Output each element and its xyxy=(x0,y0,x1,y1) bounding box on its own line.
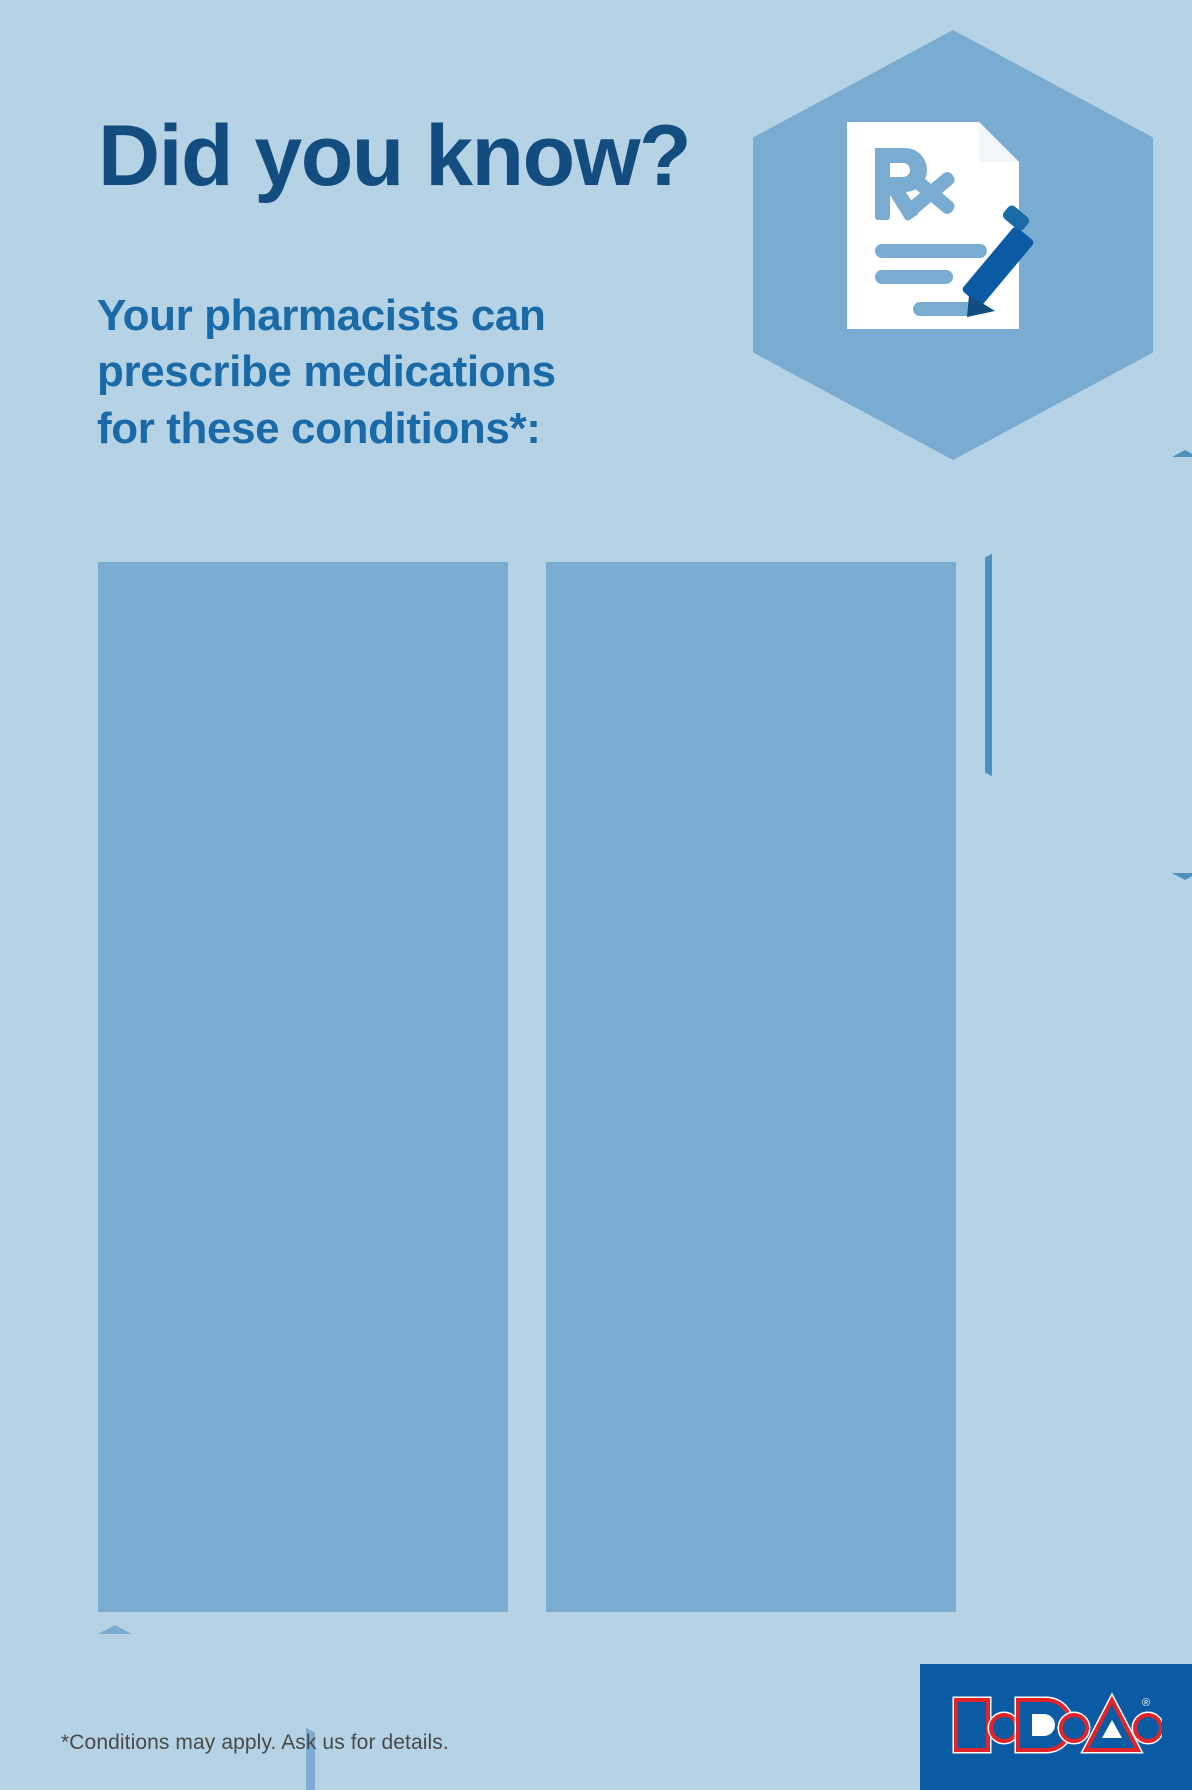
subheadline-line-2: prescribe medications xyxy=(97,344,556,400)
rx-line-2 xyxy=(875,270,953,284)
ida-logo-mark: ® xyxy=(952,1692,1162,1758)
prescription-rx-document-icon xyxy=(843,118,1043,333)
rx-signature-line xyxy=(913,302,975,316)
hexagon-outline-right xyxy=(985,450,1192,880)
subheadline-line-3: for these conditions*: xyxy=(97,401,556,457)
conditions-list-right xyxy=(546,562,956,1612)
subheadline-line-1: Your pharmacists can xyxy=(97,288,556,344)
poster-canvas: Did you know? Your pharmacists can presc… xyxy=(0,0,1192,1790)
rx-line-1 xyxy=(875,244,987,258)
registered-trademark-symbol: ® xyxy=(1142,1697,1150,1709)
subheadline: Your pharmacists can prescribe medicatio… xyxy=(97,288,556,457)
conditions-list-left xyxy=(98,562,508,1612)
page-title: Did you know? xyxy=(98,113,690,199)
ida-logo: ® xyxy=(920,1664,1192,1790)
hexagon-outline-bottom xyxy=(0,1625,315,1790)
footnote-disclaimer: *Conditions may apply. Ask us for detail… xyxy=(61,1731,449,1755)
